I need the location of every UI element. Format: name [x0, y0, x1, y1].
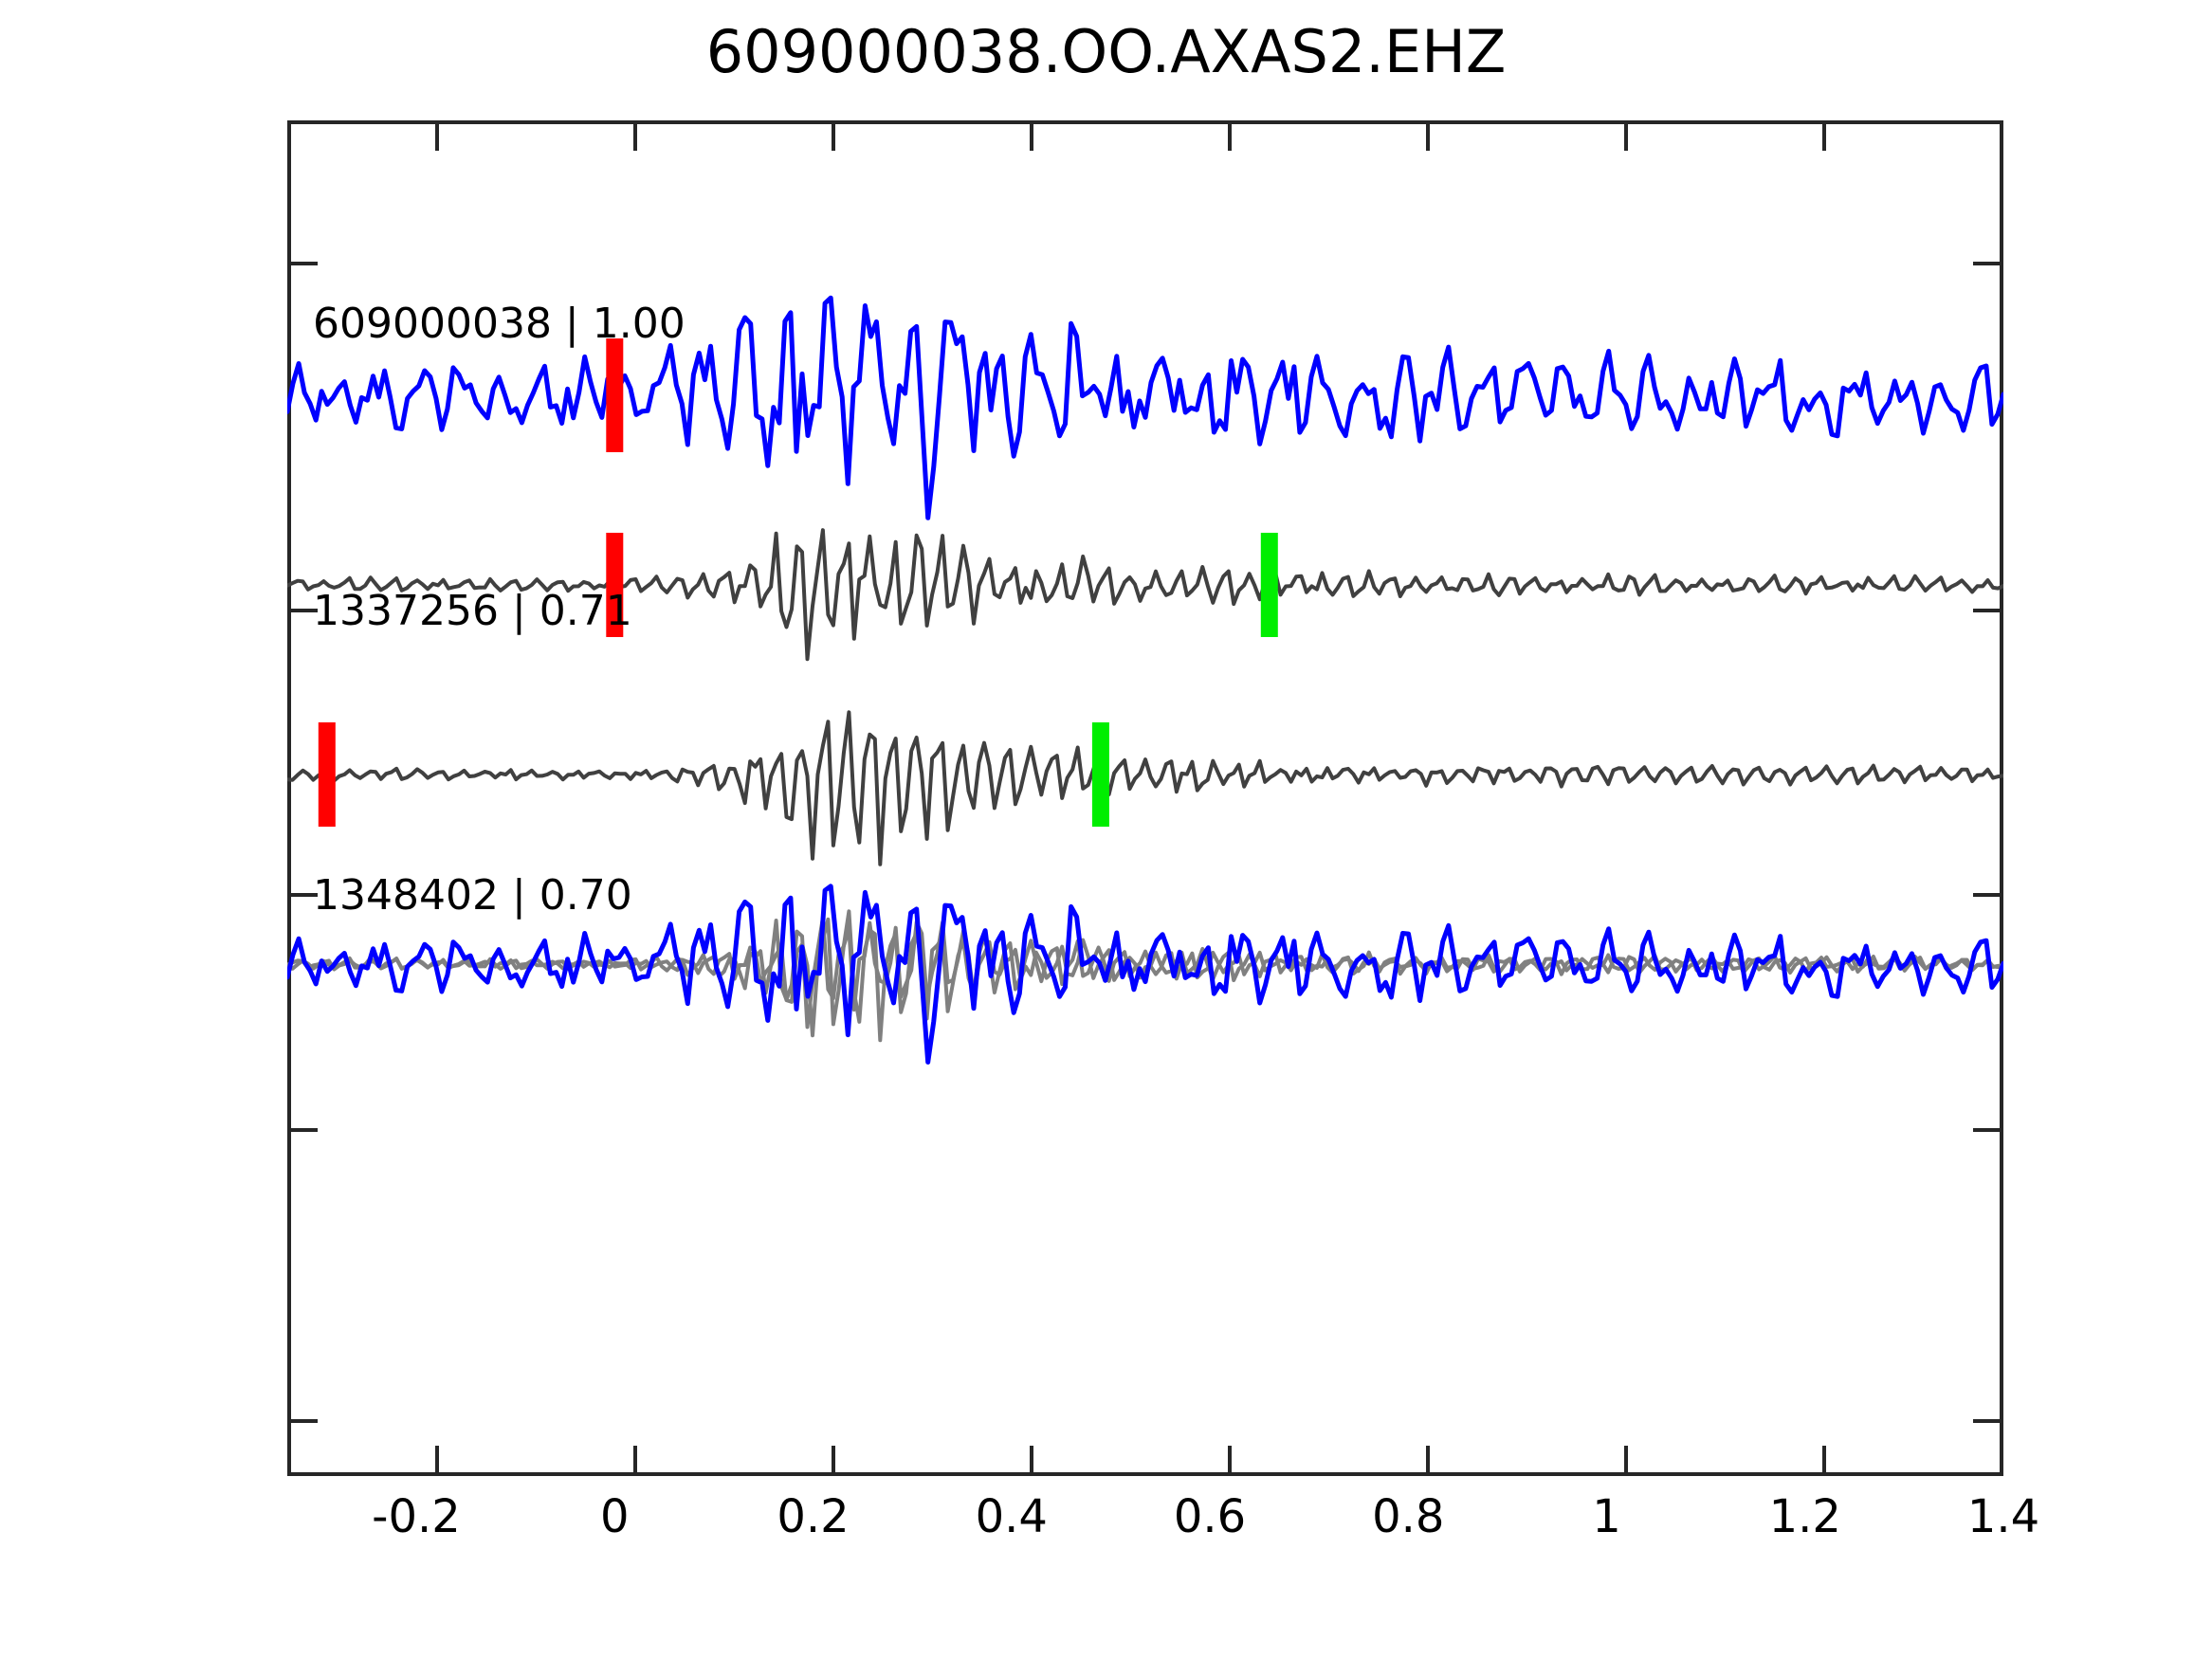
x-tick-label: 1.2	[1769, 1490, 1841, 1543]
pick-marker-p-icon	[319, 722, 336, 827]
plot-area: 609000038 | 1.00 1337256 | 0.71 1348402 …	[287, 120, 2003, 1476]
trace-label-609000038: 609000038 | 1.00	[313, 300, 686, 348]
x-tick-label: 0.8	[1372, 1490, 1444, 1543]
pick-marker-s-icon	[1092, 722, 1109, 827]
x-tick-label: 1.4	[1967, 1490, 2039, 1543]
figure-canvas: 609000038.OO.AXAS2.EHZ	[0, 0, 2212, 1659]
x-tick-label: 0	[600, 1490, 630, 1543]
trace-label-1337256: 1337256 | 0.71	[313, 587, 632, 635]
y-axis-ticks	[289, 264, 2002, 1421]
pick-marker-p-icon	[606, 338, 623, 452]
waveform-trace-1348402	[287, 712, 2003, 865]
x-tick-label: 0.2	[777, 1490, 849, 1543]
x-axis-tick-labels: -0.200.20.40.60.811.21.4	[287, 1490, 2003, 1566]
page-title: 609000038.OO.AXAS2.EHZ	[0, 17, 2212, 86]
pick-marker-s-icon	[1261, 533, 1278, 637]
x-tick-label: 0.4	[976, 1490, 1048, 1543]
x-tick-label: 1	[1592, 1490, 1621, 1543]
trace-group	[287, 298, 2003, 1062]
trace-label-1348402: 1348402 | 0.70	[313, 871, 632, 920]
x-tick-label: -0.2	[372, 1490, 461, 1543]
x-tick-label: 0.6	[1174, 1490, 1246, 1543]
